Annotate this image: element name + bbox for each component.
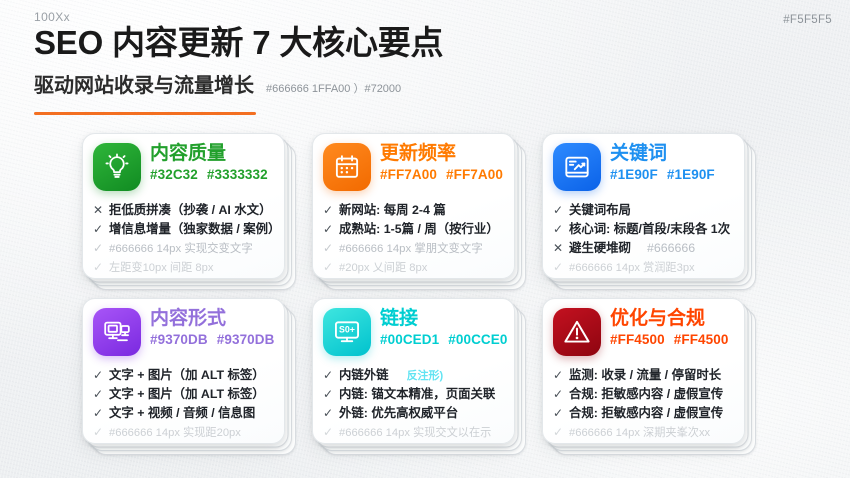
card-bullet-item: ✕拒低质拼凑（抄袭 / AI 水文） [93, 201, 274, 220]
card-title: 内容形式 [150, 309, 274, 329]
check-icon: ✓ [93, 404, 103, 422]
check-icon: ✓ [323, 404, 333, 422]
card-color-code-primary: #9370DB [150, 332, 208, 347]
card-bullet-item: ✓合规: 拒敏感内容 / 虚假宣传 [553, 385, 734, 404]
check-icon: ✓ [93, 423, 103, 441]
page-subtitle: 驱动网站收录与流量增长 [34, 69, 254, 98]
card-color-code-primary: #FF7A00 [380, 167, 437, 182]
card-bullet-list: ✓文字 + 图片（加 ALT 标签）✓文字 + 图片（加 ALT 标签）✓文字 … [93, 366, 274, 442]
card-bullet-item: ✓文字 + 图片（加 ALT 标签） [93, 366, 274, 385]
card-slot: S0+ 链接#00CED1#00CCE0✓内链外链反注形)✓内链: 锚文本精准，… [312, 298, 520, 448]
svg-text:S0+: S0+ [339, 324, 355, 334]
cross-icon: ✕ [93, 201, 103, 219]
lightbulb-icon [93, 143, 141, 191]
calendar-icon [323, 143, 371, 191]
subtitle-row: 驱动网站收录与流量增长 #666666 1FFA00 ）#72000 [34, 69, 832, 98]
card-header: 优化与合规#FF4500#FF4500 [553, 308, 734, 362]
keyword-board-icon [553, 143, 601, 191]
card-bullet-item: ✓核心词: 标题/首段/末段各 1次 [553, 220, 734, 239]
card-bullet-item: ✕避生硬堆砌#666666 [553, 239, 734, 258]
card-title: 优化与合规 [610, 309, 728, 329]
card-bullet-text: 关键词布局 [569, 201, 631, 220]
header-kicker: 100Xx [34, 10, 832, 24]
subtitle-color-note: #666666 1FFA00 ）#72000 [266, 80, 401, 96]
check-icon: ✓ [553, 385, 563, 403]
card-header: 关键词#1E90F#1E90F [553, 143, 734, 197]
card-bullet-text: 成熟站: 1-5篇 / 周（按行业） [339, 220, 499, 239]
card-bullet-text: 文字 + 图片（加 ALT 标签） [109, 366, 265, 385]
card-bullet-text: 核心词: 标题/首段/末段各 1次 [569, 220, 730, 239]
card-bullet-text: #666666 14px 实现距20px [109, 425, 241, 442]
card-bullet-item: ✓关键词布局 [553, 201, 734, 220]
card-color-codes: #FF7A00#FF7A00 [380, 167, 503, 182]
card-bullet-item: ✓左距变10px 间距 8px [93, 258, 274, 277]
card-color-code-secondary: #FF7A00 [446, 167, 503, 182]
card-bullet-item: ✓增信息增量（独家数据 / 案例） [93, 220, 274, 239]
card-bullet-text: 避生硬堆砌 [569, 239, 631, 258]
card-header-text: 内容质量#32C32#3333332 [150, 143, 268, 182]
card-slot: 内容形式#9370DB#9370DB✓文字 + 图片（加 ALT 标签）✓文字 … [82, 298, 290, 448]
check-icon: ✓ [93, 258, 103, 276]
card-bullet-list: ✓监测: 收录 / 流量 / 停留时长✓合规: 拒敏感内容 / 虚假宣传✓合规:… [553, 366, 734, 442]
card-bullet-text: 监测: 收录 / 流量 / 停留时长 [569, 366, 721, 385]
card-bullet-item: ✓#20px 乂间距 8px [323, 258, 504, 277]
card-title: 链接 [380, 309, 504, 329]
check-icon: ✓ [323, 366, 333, 384]
card-bullet-item: ✓#666666 14px 深期夹峯次xx [553, 423, 734, 442]
cross-icon: ✕ [553, 239, 563, 257]
card-bullet-item: ✓合规: 拒敏感内容 / 虚假宣传 [553, 404, 734, 423]
card-color-codes: #1E90F#1E90F [610, 167, 715, 182]
card-slot: 更新频率#FF7A00#FF7A00✓新网站: 每周 2-4 篇✓成熟站: 1-… [312, 133, 520, 283]
card-color-code-secondary: #9370DB [217, 332, 275, 347]
card-bullet-list: ✕拒低质拼凑（抄袭 / AI 水文）✓增信息增量（独家数据 / 案例）✓#666… [93, 201, 274, 277]
card-title: 更新频率 [380, 144, 503, 164]
check-icon: ✓ [93, 366, 103, 384]
card-bullet-item: ✓#666666 14px 实现交文以在示 [323, 423, 504, 442]
check-icon: ✓ [93, 239, 103, 257]
card-bullet-text: #666666 14px 赏润距3px [569, 260, 695, 277]
card-bullet-item: ✓#666666 14px 掌朋文变文字 [323, 239, 504, 258]
accent-underline [34, 112, 256, 115]
card-slot: 内容质量#32C32#3333332✕拒低质拼凑（抄袭 / AI 水文）✓增信息… [82, 133, 290, 283]
check-icon: ✓ [323, 423, 333, 441]
slide-canvas: 100Xx SEO 内容更新 7 大核心要点 驱动网站收录与流量增长 #6666… [0, 0, 850, 478]
card-header: 更新频率#FF7A00#FF7A00 [323, 143, 504, 197]
card-header-text: 内容形式#9370DB#9370DB [150, 308, 274, 347]
card-bullet-item: ✓新网站: 每周 2-4 篇 [323, 201, 504, 220]
card-bullet-item: ✓文字 + 视频 / 音频 / 信息图 [93, 404, 274, 423]
card-grid: 内容质量#32C32#3333332✕拒低质拼凑（抄袭 / AI 水文）✓增信息… [82, 133, 750, 448]
card-color-codes: #32C32#3333332 [150, 167, 268, 182]
card-color-code-primary: #FF4500 [610, 332, 665, 347]
card-color-codes: #9370DB#9370DB [150, 332, 274, 347]
check-icon: ✓ [323, 239, 333, 257]
check-icon: ✓ [93, 220, 103, 238]
card-bullet-list: ✓内链外链反注形)✓内链: 锚文本精准，页面关联✓外链: 优先高权威平台✓#66… [323, 366, 504, 442]
card-header-text: 链接#00CED1#00CCE0 [380, 308, 504, 347]
card-bullet-text: 拒低质拼凑（抄袭 / AI 水文） [109, 201, 271, 220]
check-icon: ✓ [93, 385, 103, 403]
card-bullet-text: 新网站: 每周 2-4 篇 [339, 201, 446, 220]
card-bullet-list: ✓新网站: 每周 2-4 篇✓成熟站: 1-5篇 / 周（按行业）✓#66666… [323, 201, 504, 277]
card-title: 内容质量 [150, 144, 268, 164]
card-bullet-item: ✓#666666 14px 实现交变文字 [93, 239, 274, 258]
card-bullet-item: ✓内链外链反注形) [323, 366, 504, 385]
card-bullet-text: 合规: 拒敏感内容 / 虚假宣传 [569, 404, 723, 423]
page-title: SEO 内容更新 7 大核心要点 [34, 25, 832, 62]
background-color-code: #F5F5F5 [783, 14, 832, 26]
card-bullet-text: #666666 14px 掌朋文变文字 [339, 241, 483, 258]
card-bullet-text: #666666 14px 深期夹峯次xx [569, 425, 710, 442]
check-icon: ✓ [553, 220, 563, 238]
check-icon: ✓ [323, 220, 333, 238]
topic-card[interactable]: 优化与合规#FF4500#FF4500✓监测: 收录 / 流量 / 停留时长✓合… [542, 298, 745, 444]
card-bullet-list: ✓关键词布局✓核心词: 标题/首段/末段各 1次✕避生硬堆砌#666666✓#6… [553, 201, 734, 277]
card-header: 内容质量#32C32#3333332 [93, 143, 274, 197]
card-color-code-primary: #1E90F [610, 167, 658, 182]
media-monitor-icon [93, 308, 141, 356]
card-title: 关键词 [610, 144, 715, 164]
card-color-codes: #FF4500#FF4500 [610, 332, 728, 347]
check-icon: ✓ [323, 201, 333, 219]
card-bullet-item: ✓内链: 锚文本精准，页面关联 [323, 385, 504, 404]
card-header: S0+ 链接#00CED1#00CCE0 [323, 308, 504, 362]
card-bullet-item: ✓#666666 14px 实现距20px [93, 423, 274, 442]
card-bullet-text: 合规: 拒敏感内容 / 虚假宣传 [569, 385, 723, 404]
card-header-text: 更新频率#FF7A00#FF7A00 [380, 143, 503, 182]
card-slot: 关键词#1E90F#1E90F✓关键词布局✓核心词: 标题/首段/末段各 1次✕… [542, 133, 750, 283]
card-bullet-text: 文字 + 视频 / 音频 / 信息图 [109, 404, 255, 423]
check-icon: ✓ [553, 423, 563, 441]
slide-header: 100Xx SEO 内容更新 7 大核心要点 驱动网站收录与流量增长 #6666… [34, 10, 832, 98]
topic-card[interactable]: 更新频率#FF7A00#FF7A00✓新网站: 每周 2-4 篇✓成熟站: 1-… [312, 133, 515, 279]
card-bullet-item: ✓监测: 收录 / 流量 / 停留时长 [553, 366, 734, 385]
card-header-text: 关键词#1E90F#1E90F [610, 143, 715, 182]
card-header-text: 优化与合规#FF4500#FF4500 [610, 308, 728, 347]
card-bullet-text: 左距变10px 间距 8px [109, 260, 213, 277]
card-bullet-item: ✓#666666 14px 赏润距3px [553, 258, 734, 277]
card-bullet-note: #666666 [647, 239, 695, 258]
card-bullet-text: 内链外链 [339, 366, 389, 385]
check-icon: ✓ [323, 385, 333, 403]
card-color-code-secondary: #1E90F [667, 167, 715, 182]
card-color-code-secondary: #00CCE0 [448, 332, 507, 347]
card-bullet-text: 内链: 锚文本精准，页面关联 [339, 385, 495, 404]
link-monitor-icon: S0+ [323, 308, 371, 356]
card-bullet-text: 增信息增量（独家数据 / 案例） [109, 220, 280, 239]
check-icon: ✓ [553, 201, 563, 219]
warning-triangle-icon [553, 308, 601, 356]
card-slot: 优化与合规#FF4500#FF4500✓监测: 收录 / 流量 / 停留时长✓合… [542, 298, 750, 448]
card-bullet-text: 文字 + 图片（加 ALT 标签） [109, 385, 265, 404]
topic-card[interactable]: S0+ 链接#00CED1#00CCE0✓内链外链反注形)✓内链: 锚文本精准，… [312, 298, 515, 444]
topic-card[interactable]: 内容形式#9370DB#9370DB✓文字 + 图片（加 ALT 标签）✓文字 … [82, 298, 285, 444]
check-icon: ✓ [553, 366, 563, 384]
check-icon: ✓ [553, 404, 563, 422]
card-bullet-text: #20px 乂间距 8px [339, 260, 427, 277]
card-bullet-item: ✓文字 + 图片（加 ALT 标签） [93, 385, 274, 404]
card-color-code-secondary: #FF4500 [674, 332, 729, 347]
card-bullet-item: ✓外链: 优先高权威平台 [323, 404, 504, 423]
card-color-code-primary: #00CED1 [380, 332, 439, 347]
card-bullet-highlight-note: 反注形) [407, 368, 444, 385]
card-color-code-secondary: #3333332 [207, 167, 268, 182]
topic-card[interactable]: 关键词#1E90F#1E90F✓关键词布局✓核心词: 标题/首段/末段各 1次✕… [542, 133, 745, 279]
card-color-code-primary: #32C32 [150, 167, 198, 182]
card-bullet-text: #666666 14px 实现交文以在示 [339, 425, 491, 442]
card-bullet-item: ✓成熟站: 1-5篇 / 周（按行业） [323, 220, 504, 239]
topic-card[interactable]: 内容质量#32C32#3333332✕拒低质拼凑（抄袭 / AI 水文）✓增信息… [82, 133, 285, 279]
card-header: 内容形式#9370DB#9370DB [93, 308, 274, 362]
card-color-codes: #00CED1#00CCE0 [380, 332, 504, 347]
check-icon: ✓ [323, 258, 333, 276]
check-icon: ✓ [553, 258, 563, 276]
card-bullet-text: #666666 14px 实现交变文字 [109, 241, 253, 258]
card-bullet-text: 外链: 优先高权威平台 [339, 404, 458, 423]
